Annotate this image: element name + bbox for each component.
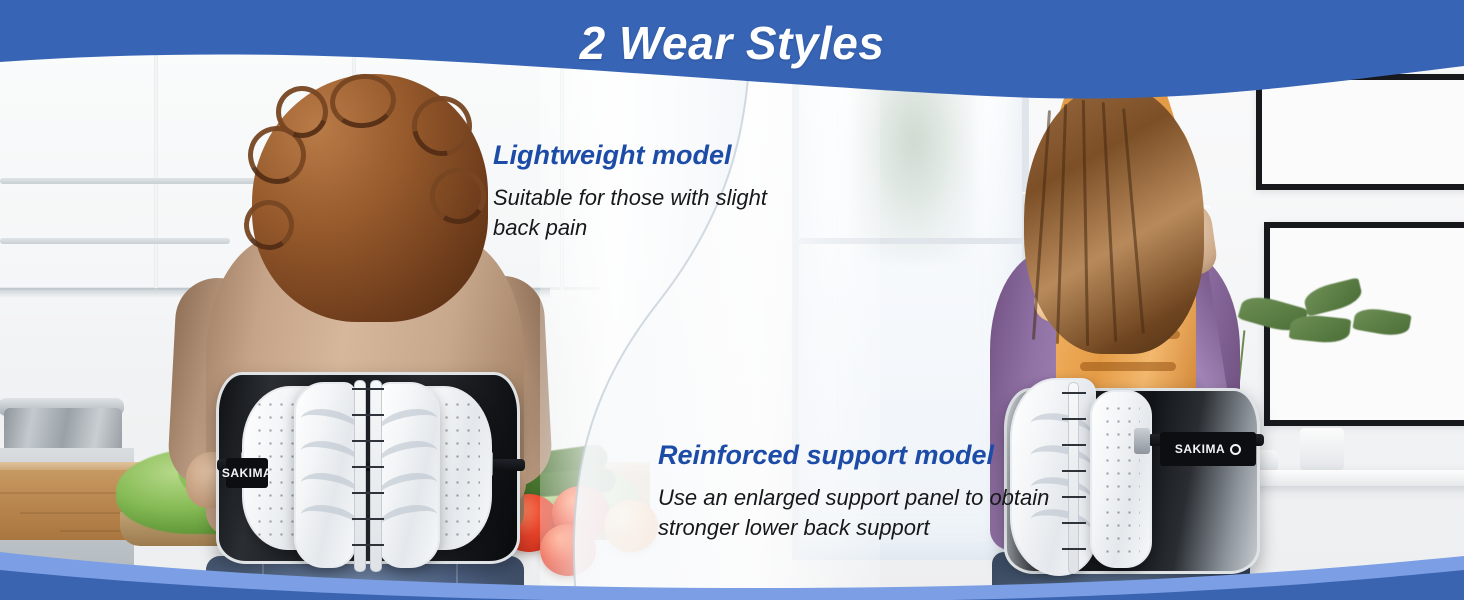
panel-wave [298, 500, 363, 542]
panel-wave [298, 436, 363, 478]
lace-cord [352, 414, 384, 416]
brand-logo-icon [1230, 444, 1241, 455]
lace-cord [352, 440, 384, 442]
lace-cord [352, 544, 384, 546]
reinforced-heading: Reinforced support model [658, 440, 1078, 471]
brace-center-panel-left [294, 382, 356, 568]
panel-lightweight-scene: SAKIMA [0, 0, 760, 600]
brand-name: SAKIMA [222, 466, 272, 480]
window-foliage [854, 60, 974, 260]
page-title: 2 Wear Styles [0, 16, 1464, 70]
panel-wave [376, 500, 441, 542]
lace-cord [352, 492, 384, 494]
tomato [540, 524, 596, 576]
panel-wave [376, 468, 441, 510]
plant-pot [1300, 428, 1344, 472]
reinforced-text-block: Reinforced support model Use an enlarged… [658, 440, 1078, 543]
brand-name: SAKIMA [1175, 442, 1225, 456]
lace-cord [1062, 418, 1086, 420]
lace-cord [352, 466, 384, 468]
strap-buckle [1134, 428, 1150, 454]
brace-secondary-panel [1090, 390, 1152, 568]
wall-picture-frame [1256, 74, 1464, 190]
lightweight-text-block: Lightweight model Suitable for those wit… [493, 140, 783, 243]
panel-perforations [1102, 402, 1140, 556]
reinforced-body: Use an enlarged support panel to obtain … [658, 483, 1078, 543]
cabinet-handle [0, 238, 230, 244]
brace-center-panel-right [378, 382, 440, 568]
panel-wave [298, 468, 363, 510]
brand-tag: SAKIMA [226, 458, 268, 488]
window-mullion [792, 238, 1029, 244]
cat-stripe [1080, 362, 1176, 371]
lace-cord [1062, 548, 1086, 550]
panel-wave [376, 436, 441, 478]
lightweight-heading: Lightweight model [493, 140, 783, 171]
brand-tag: SAKIMA [1160, 432, 1256, 466]
promo-banner: SAKIMA [0, 0, 1464, 600]
panel-wave [376, 404, 441, 446]
lace-cord [1062, 392, 1086, 394]
tomato [604, 500, 658, 552]
lightweight-body: Suitable for those with slight back pain [493, 183, 783, 243]
lace-cord [352, 518, 384, 520]
lace-cord [352, 388, 384, 390]
